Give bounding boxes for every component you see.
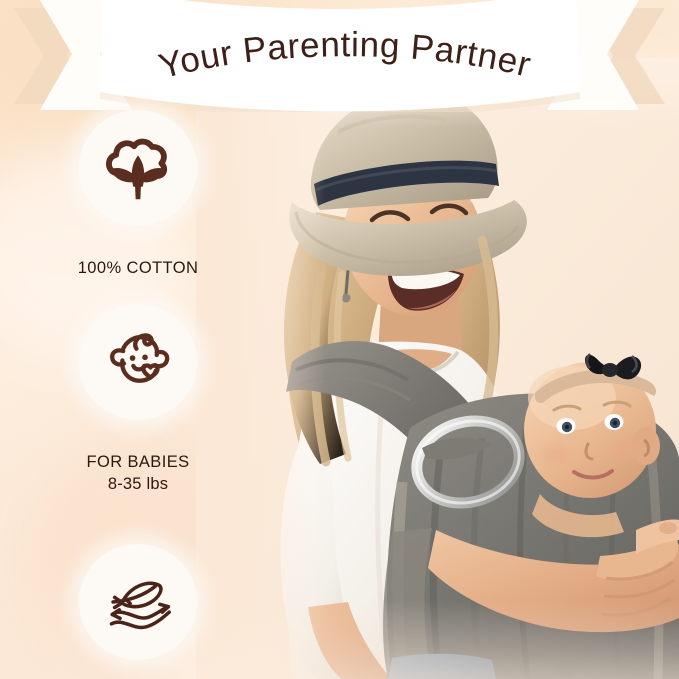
feature-list: 100% COTTON — [60, 108, 216, 679]
feature-cotton: 100% COTTON — [60, 108, 216, 280]
jeans — [388, 654, 496, 679]
feature-label-lightweight: LIGHTWEIGHT FABRIC — [60, 671, 216, 679]
product-infographic: Your Parenting Partner — [0, 0, 679, 679]
cotton-boll-icon — [99, 129, 177, 207]
banner-title-text: Your Parenting Partner — [155, 25, 535, 86]
badge-cotton — [60, 108, 216, 228]
baby-icon-eye-left — [130, 355, 136, 361]
feature-babies: FOR BABIES 8-35 lbs — [60, 302, 216, 517]
feature-label-text: FOR BABIES — [86, 453, 189, 471]
badge-babies — [60, 302, 216, 422]
feature-label-text: 100% COTTON — [78, 259, 199, 277]
feather-fabric-icon — [99, 563, 177, 641]
feature-sublabel-text: 8-35 lbs — [60, 474, 216, 495]
feature-label-cotton: 100% COTTON — [60, 237, 216, 280]
badge-lightweight — [60, 542, 216, 662]
product-photo — [196, 62, 679, 679]
feature-lightweight: LIGHTWEIGHT FABRIC — [60, 542, 216, 679]
feature-label-babies: FOR BABIES 8-35 lbs — [60, 431, 216, 517]
banner-title-wrap: Your Parenting Partner — [0, 0, 679, 112]
earring — [346, 270, 348, 294]
baby-icon-eye-right — [142, 354, 148, 360]
baby-face-icon — [99, 323, 177, 401]
banner-title: Your Parenting Partner — [155, 25, 535, 86]
